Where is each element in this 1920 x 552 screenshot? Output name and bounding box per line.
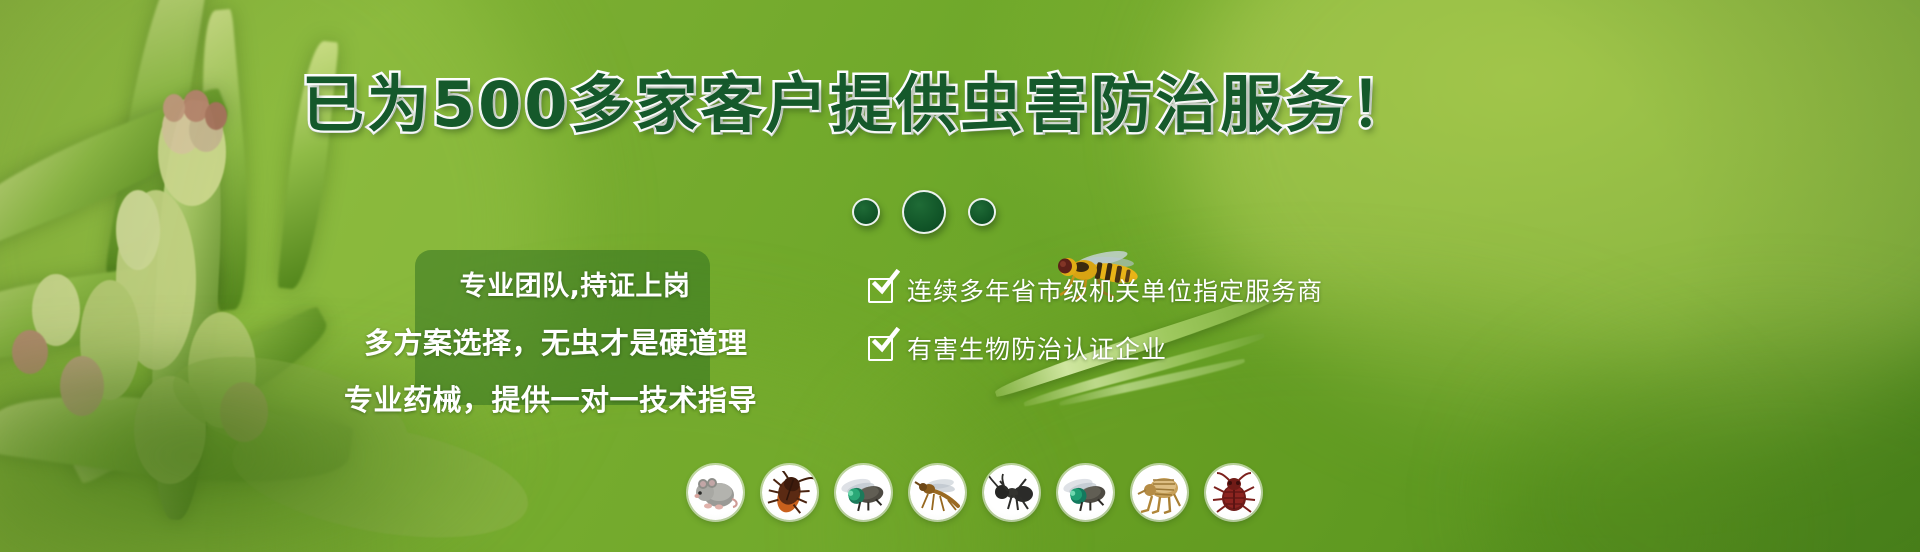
greenfly-icon[interactable]	[1058, 465, 1113, 520]
credential-label: 连续多年省市级机关单位指定服务商	[907, 272, 1323, 308]
bedbug-icon[interactable]	[1206, 465, 1261, 520]
credentials-checklist: 连续多年省市级机关单位指定服务商 有害生物防治认证企业	[868, 272, 1323, 366]
page-title: 已为500多家客户提供虫害防治服务！	[0, 74, 1920, 136]
mosquito-icon[interactable]	[910, 465, 965, 520]
ant-icon[interactable]	[984, 465, 1039, 520]
checkbox-checked-icon	[868, 336, 893, 361]
selling-point-line-2: 多方案选择，无虫才是硬道理	[336, 320, 736, 362]
headline-text: 已为500多家客户提供虫害防治服务！	[302, 68, 1415, 141]
cockroach-icon[interactable]	[762, 465, 817, 520]
credential-label: 有害生物防治认证企业	[907, 330, 1167, 366]
selling-point-line-3: 专业药械，提供一对一技术指导	[336, 377, 736, 419]
mouse-icon[interactable]	[688, 465, 743, 520]
decorative-dots	[852, 188, 996, 236]
selling-points-text: 专业团队,持证上岗 多方案选择，无虫才是硬道理 专业药械，提供一对一技术指导	[336, 252, 736, 419]
dot-small-left	[852, 198, 880, 226]
dot-large-center	[902, 190, 946, 234]
checkbox-checked-icon	[868, 278, 893, 303]
list-item: 有害生物防治认证企业	[868, 330, 1323, 366]
list-item: 连续多年省市级机关单位指定服务商	[868, 272, 1323, 308]
pest-icon-row	[688, 465, 1261, 520]
pest-control-banner: 已为500多家客户提供虫害防治服务！ 专业团队,持证上岗 多方案选择，无虫才是硬…	[0, 0, 1920, 552]
selling-point-line-1: 专业团队,持证上岗	[336, 264, 736, 303]
housefly-icon[interactable]	[836, 465, 891, 520]
dot-small-right	[968, 198, 996, 226]
flea-icon[interactable]	[1132, 465, 1187, 520]
